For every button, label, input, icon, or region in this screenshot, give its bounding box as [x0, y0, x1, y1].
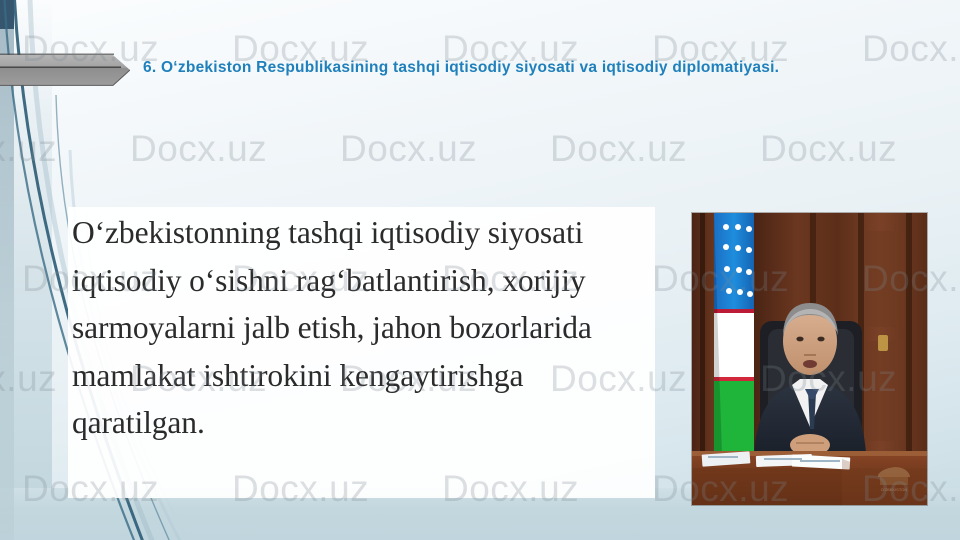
president-photo: O'ZBEKISTON: [692, 213, 927, 505]
title-banner-arrow: [0, 52, 130, 88]
slide-title: 6. O‘zbekiston Respublikasining tashqi i…: [143, 57, 783, 79]
slide-body-text: O‘zbekistonning tashqi iqtisodiy siyosat…: [72, 209, 652, 447]
presentation-slide: 6. O‘zbekiston Respublikasining tashqi i…: [0, 0, 960, 540]
photo-illustration: O'ZBEKISTON: [692, 213, 927, 505]
